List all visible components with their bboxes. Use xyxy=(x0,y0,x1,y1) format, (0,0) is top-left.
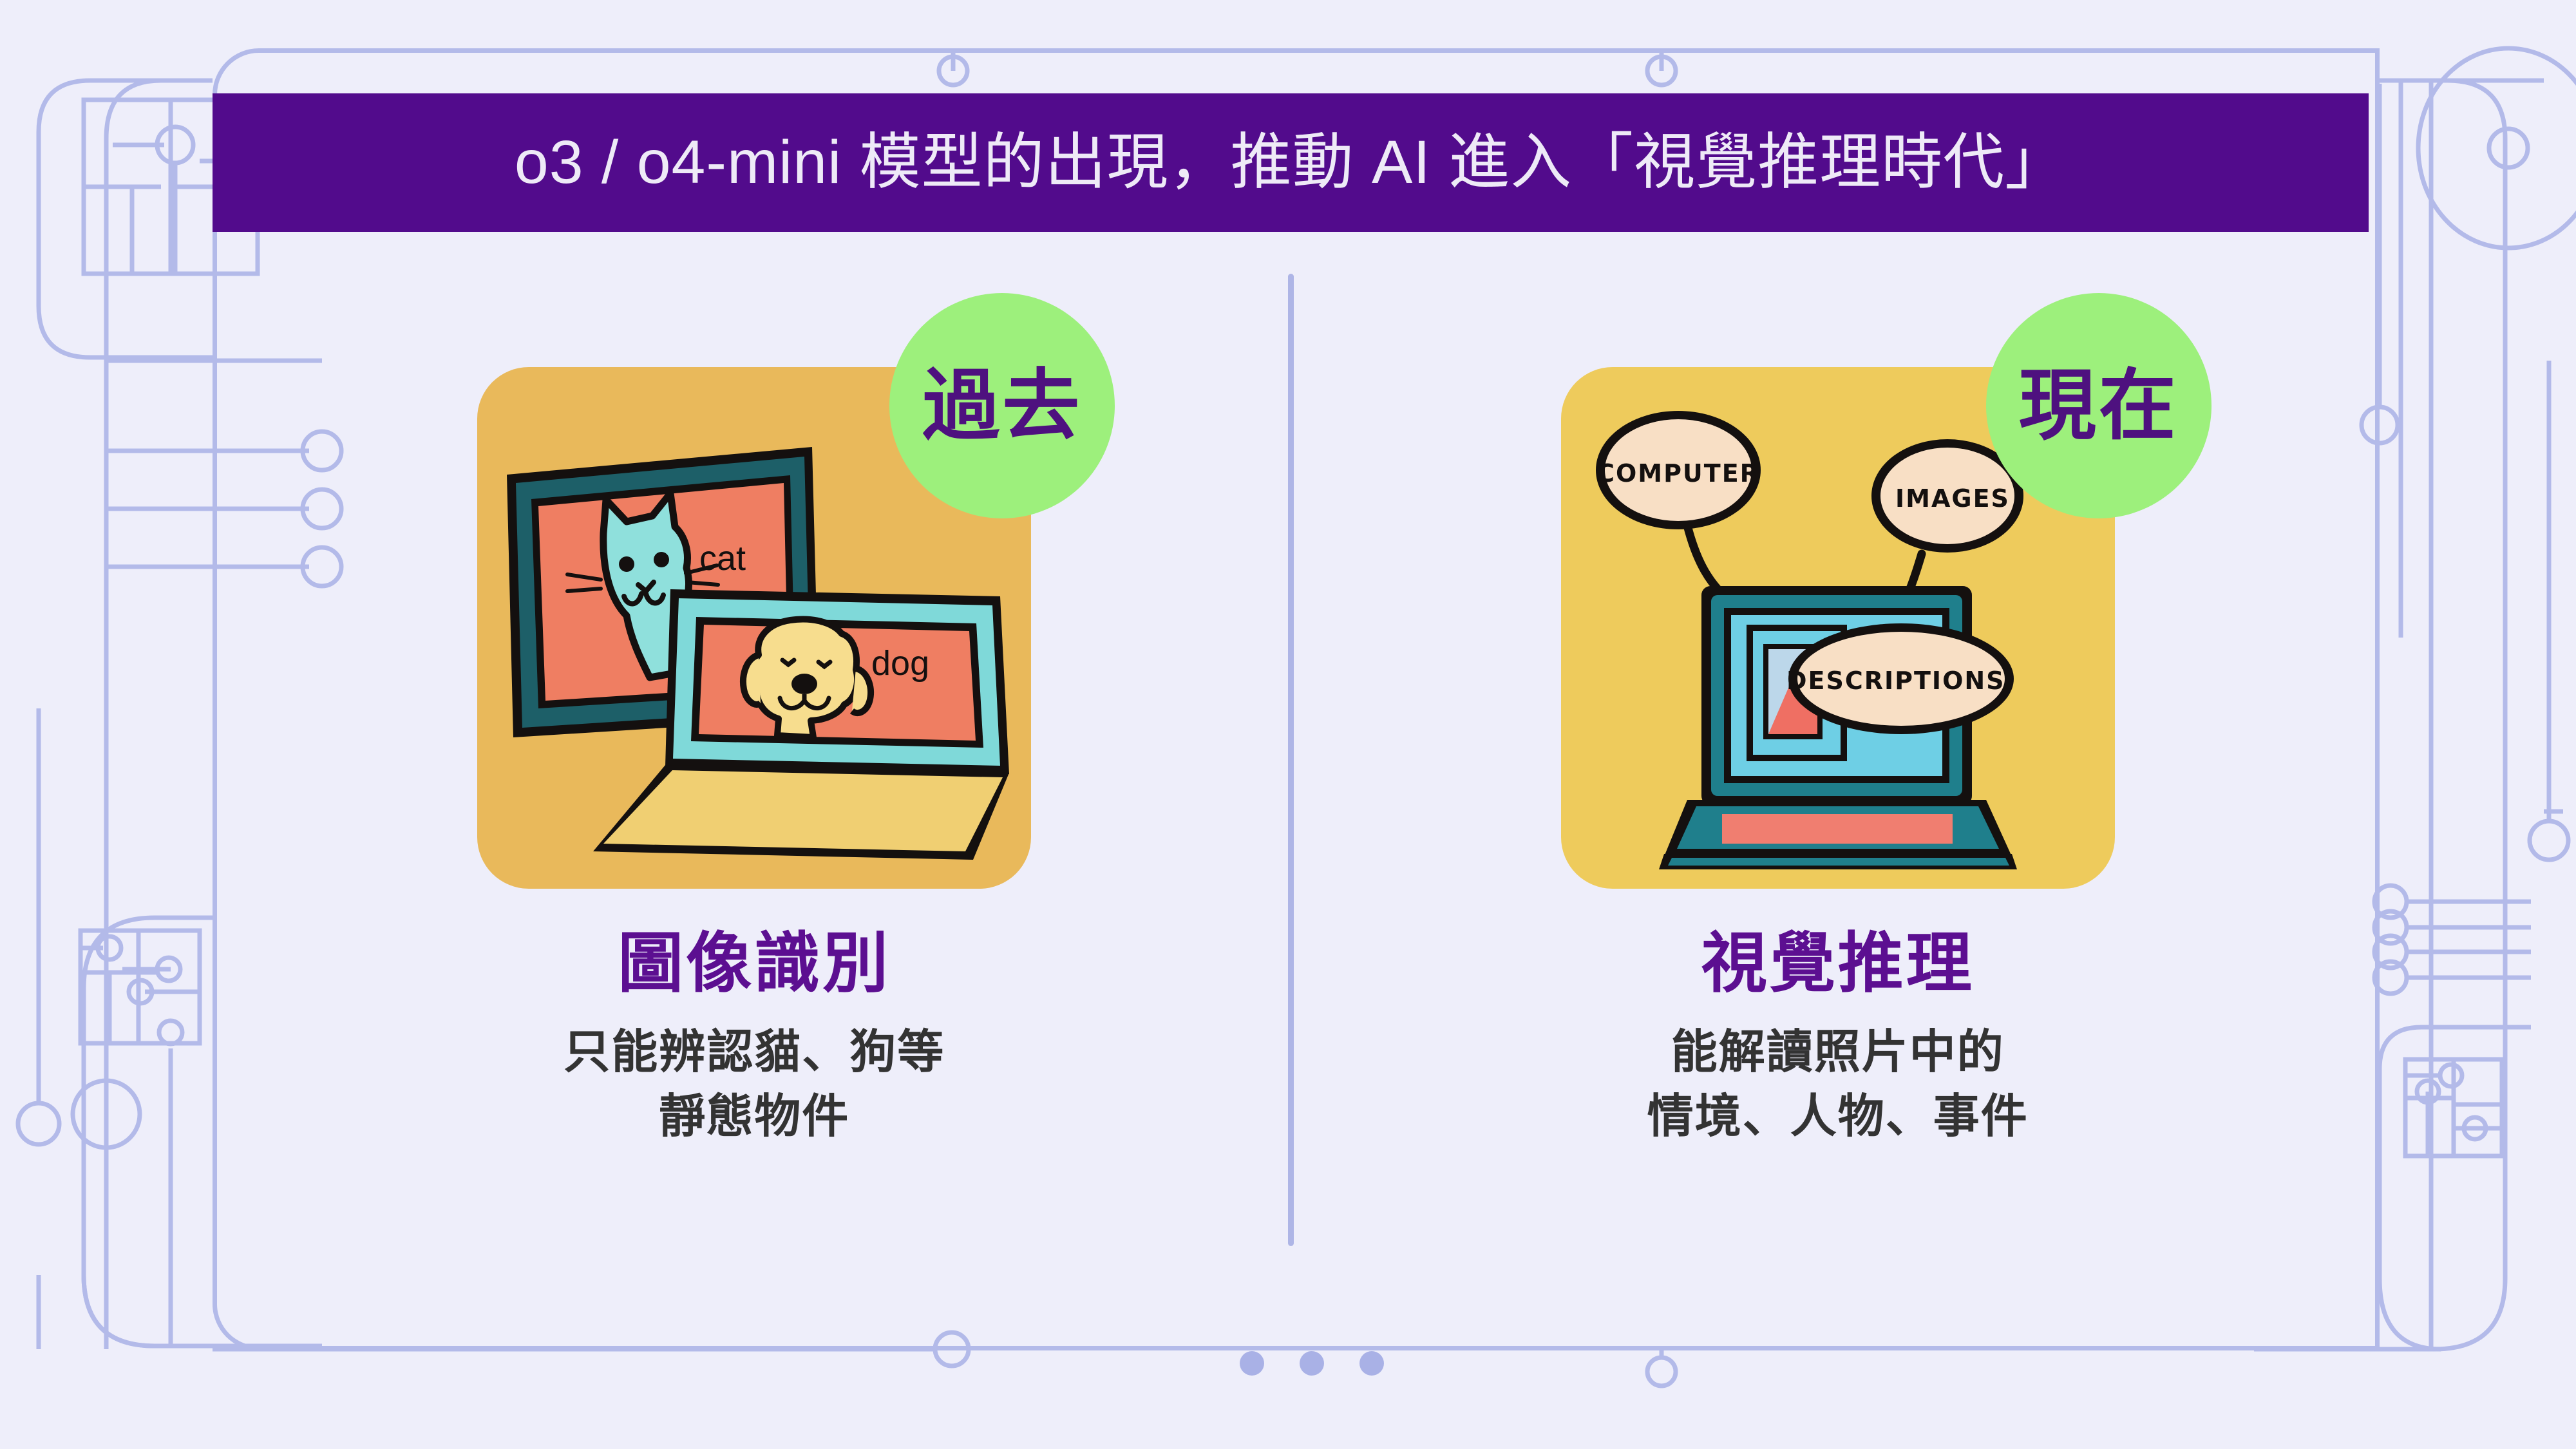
svg-text:DESCRIPTIONS.: DESCRIPTIONS. xyxy=(1786,667,2016,695)
dog-label: dog xyxy=(871,644,929,683)
illustration-wrap-right: COMPUTER IMAGES DESCRIPTIONS. xyxy=(1561,367,2115,889)
body-line: 靜態物件 xyxy=(563,1085,945,1149)
illustration-wrap-left: cat xyxy=(477,367,1031,889)
cat-label: cat xyxy=(699,539,746,578)
dot xyxy=(1359,1351,1384,1376)
column-divider xyxy=(1288,274,1294,1246)
dot xyxy=(1300,1351,1324,1376)
caption-past: 圖像識別 只能辨認貓、狗等 靜態物件 xyxy=(563,926,945,1149)
column-past: cat xyxy=(213,258,1296,1314)
body-line: 能解讀照片中的 xyxy=(1647,1021,2029,1084)
bottom-dots xyxy=(1240,1351,1384,1376)
badge-present: 現在 xyxy=(1986,293,2211,518)
title-banner: o3 / o4-mini 模型的出現，推動 AI 進入「視覺推理時代」 xyxy=(213,93,2369,232)
body-line: 只能辨認貓、狗等 xyxy=(563,1021,945,1084)
heading-image-recognition: 圖像識別 xyxy=(563,926,945,1001)
caption-present: 視覺推理 能解讀照片中的 情境、人物、事件 xyxy=(1647,926,2029,1149)
badge-present-label: 現在 xyxy=(2019,367,2179,444)
bubble-computer: COMPUTER xyxy=(1596,411,1761,529)
bubble-descriptions: DESCRIPTIONS. xyxy=(1786,623,2016,734)
body-visual-reasoning: 能解讀照片中的 情境、人物、事件 xyxy=(1647,1021,2029,1149)
heading-visual-reasoning: 視覺推理 xyxy=(1647,926,2029,1001)
column-present: COMPUTER IMAGES DESCRIPTIONS. xyxy=(1296,258,2380,1314)
badge-past: 過去 xyxy=(889,293,1115,518)
dot xyxy=(1240,1351,1264,1376)
body-line: 情境、人物、事件 xyxy=(1647,1085,2029,1149)
badge-past-label: 過去 xyxy=(922,367,1082,444)
page-title: o3 / o4-mini 模型的出現，推動 AI 進入「視覺推理時代」 xyxy=(515,132,2067,193)
comparison-columns: cat xyxy=(213,258,2380,1314)
svg-text:COMPUTER: COMPUTER xyxy=(1596,459,1760,488)
svg-text:IMAGES: IMAGES xyxy=(1895,484,2010,513)
body-image-recognition: 只能辨認貓、狗等 靜態物件 xyxy=(563,1021,945,1149)
